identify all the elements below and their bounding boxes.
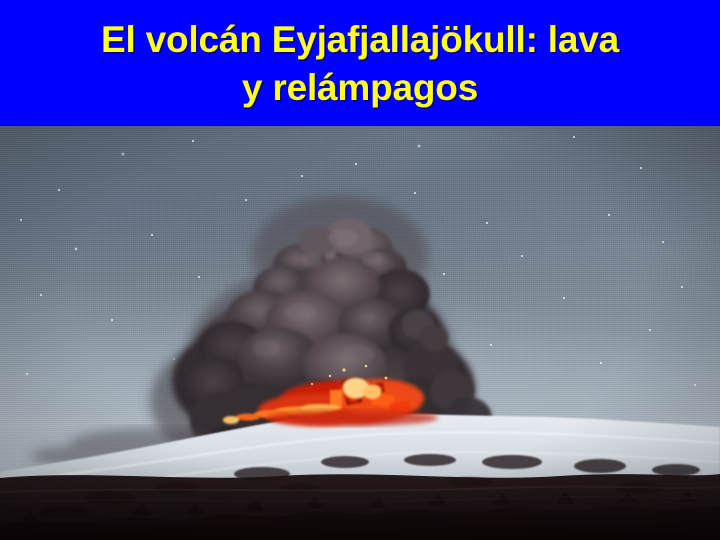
slide-canvas: El volcán Eyjafjallajökull: lava y relám…	[0, 0, 720, 540]
dark-foreground	[0, 126, 720, 540]
page-title-line-2: y relámpagos	[242, 64, 478, 112]
page-title-line-1: El volcán Eyjafjallajökull: lava	[101, 16, 619, 64]
title-banner: El volcán Eyjafjallajökull: lava y relám…	[0, 0, 720, 126]
volcano-photo	[0, 126, 720, 540]
